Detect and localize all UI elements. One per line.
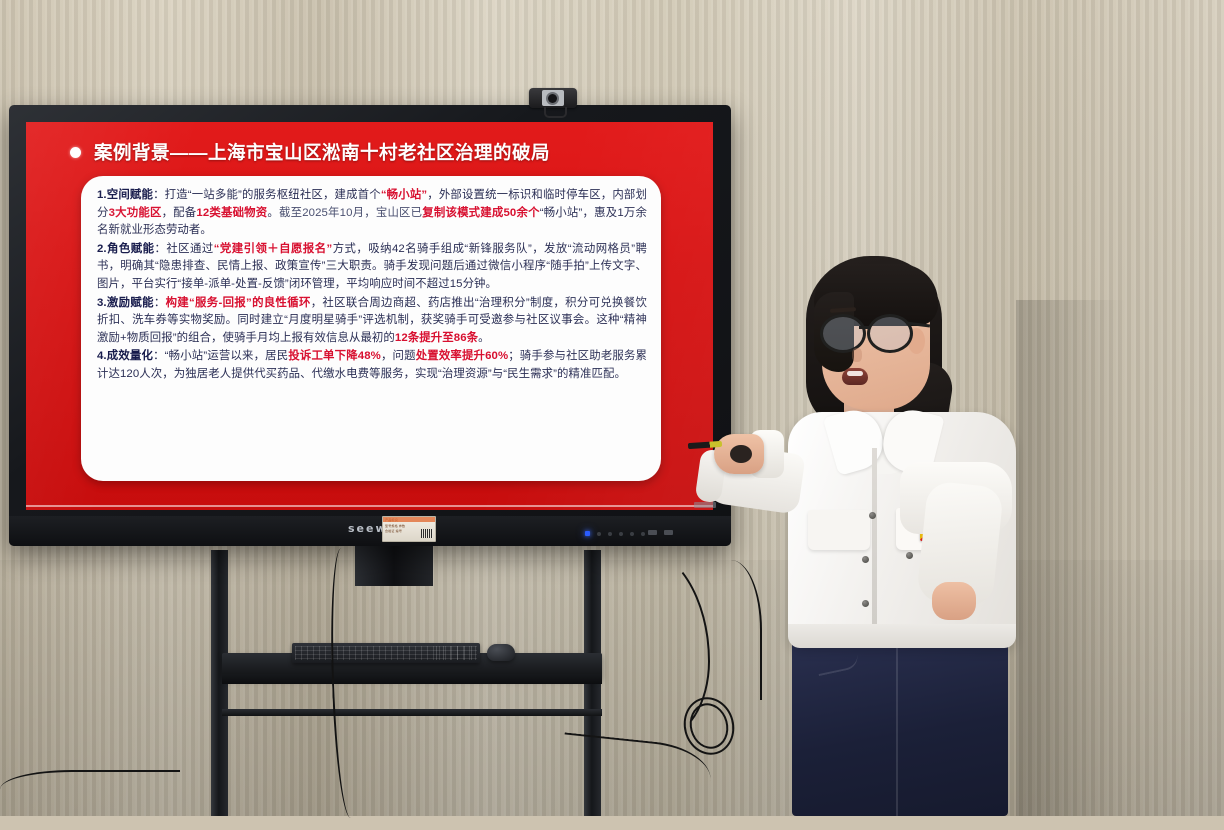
stand-neck: [355, 540, 433, 586]
display-port-row[interactable]: [648, 530, 673, 535]
fingers-curled: [730, 445, 752, 463]
power-led-icon: [585, 531, 590, 536]
stand-crossbar: [222, 709, 602, 716]
jacket-pocket-left: [808, 510, 870, 550]
presenter: [744, 252, 1044, 816]
nose: [852, 348, 862, 362]
webcam-icon: [529, 88, 577, 118]
glasses-icon: [820, 314, 932, 348]
jacket-button: [869, 512, 876, 519]
hand-right: [932, 582, 976, 620]
device-spec-label: 产品标识 型号规格 参数 合格证 编号: [382, 516, 436, 542]
glasses-bridge: [859, 326, 869, 329]
glasses-lens-right: [867, 314, 913, 353]
label-header-strip: [383, 517, 435, 522]
bezel-button[interactable]: [608, 532, 612, 536]
keyboard[interactable]: [292, 643, 480, 663]
bezel-button[interactable]: [641, 532, 645, 536]
usb-port-icon[interactable]: [648, 530, 657, 535]
floor-cable-left: [0, 770, 180, 818]
slide-title: 案例背景——上海市宝山区淞南十村老社区治理的破局: [70, 139, 693, 165]
mouse[interactable]: [487, 644, 515, 661]
display-indicator-row[interactable]: [585, 531, 645, 536]
bullet-icon: [70, 147, 81, 158]
slide-paragraph-2: 2.角色赋能：社区通过“党建引领＋自愿报名”方式，吸纳42名骑手组成“新锋服务队…: [97, 241, 647, 294]
screen-corner-tag: [694, 502, 716, 508]
keyboard-tray-front: [222, 674, 602, 684]
jacket-hem: [788, 624, 1016, 648]
slide-paragraph-4: 4.成效量化：“畅小站”运营以来，居民投诉工单下降48%，问题处置效率提升60%…: [97, 348, 647, 383]
slide-paragraph-1: 1.空间赋能：打造“一站多能”的服务枢纽社区，建成首个“畅小站”，外部设置统一标…: [97, 187, 647, 240]
mouth: [842, 368, 868, 385]
slide-paragraph-3: 3.激励赋能：构建“服务-回报”的良性循环，社区联合周边商超、药店推出“治理积分…: [97, 295, 647, 348]
barcode-icon: [421, 529, 433, 538]
jeans-seam: [896, 648, 898, 816]
bezel-button[interactable]: [619, 532, 623, 536]
jacket-button: [862, 556, 869, 563]
jacket-placket: [872, 448, 877, 636]
slide-bottom-rule: [26, 505, 713, 507]
usb-port-icon[interactable]: [664, 530, 673, 535]
slide-title-text: 案例背景——上海市宝山区淞南十村老社区治理的破局: [94, 139, 550, 165]
hand-pointing: [714, 434, 764, 474]
camera-lens-icon: [548, 94, 557, 103]
webcam-clip: [544, 107, 567, 118]
bezel-button[interactable]: [630, 532, 634, 536]
jacket-button: [862, 600, 869, 607]
keyboard-numpad: [436, 646, 476, 660]
bezel-button[interactable]: [597, 532, 601, 536]
presentation-slide[interactable]: 案例背景——上海市宝山区淞南十村老社区治理的破局 1.空间赋能：打造“一站多能”…: [26, 122, 713, 510]
glasses-lens-left: [820, 314, 866, 353]
jacket-button: [906, 552, 913, 559]
slide-content-card: 1.空间赋能：打造“一站多能”的服务枢纽社区，建成首个“畅小站”，外部设置统一标…: [81, 176, 661, 481]
